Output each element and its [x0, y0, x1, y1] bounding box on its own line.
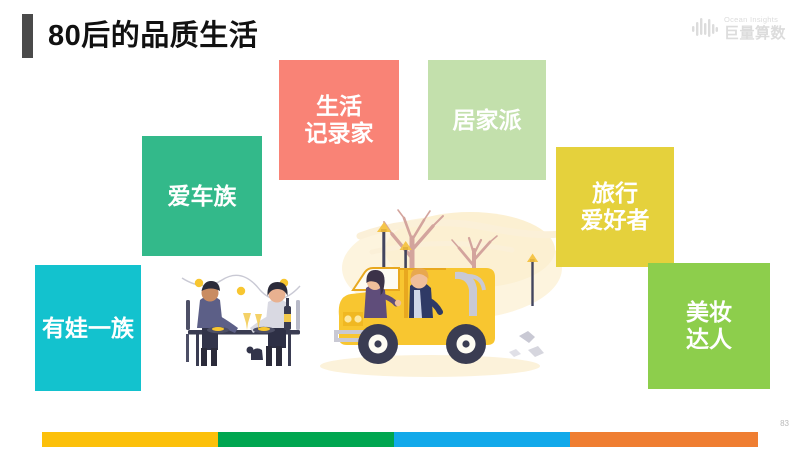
tile-label: 生活 记录家: [305, 93, 374, 147]
title-accent-bar: [22, 14, 33, 58]
logo-name: 巨量算数: [724, 26, 786, 41]
logo-text-group: Ocean Insights 巨量算数: [724, 16, 786, 41]
page-title: 80后的品质生活: [48, 17, 258, 55]
tile-youwa-yizu[interactable]: 有娃一族: [35, 265, 141, 391]
segment-orange: [570, 432, 758, 447]
tile-label: 有娃一族: [42, 315, 134, 342]
tile-label: 爱车族: [168, 183, 237, 210]
tile-aichezu[interactable]: 爱车族: [142, 136, 262, 256]
tile-meizhuang-daren[interactable]: 美妆 达人: [648, 263, 770, 389]
logo-tagline: Ocean Insights: [724, 16, 786, 24]
page-number: 83: [780, 419, 789, 428]
segment-yellow: [42, 432, 218, 447]
tile-jujiapai[interactable]: 居家派: [428, 60, 546, 180]
tile-label: 美妆 达人: [686, 299, 732, 353]
tile-shenghuo-jilujia[interactable]: 生活 记录家: [279, 60, 399, 180]
tile-label: 居家派: [453, 107, 522, 134]
slide-canvas: 80后的品质生活 Ocean Insights 巨量算数: [0, 0, 800, 450]
tile-lvxing-aihaozhe[interactable]: 旅行 爱好者: [556, 147, 674, 267]
footer-color-bar: [42, 432, 758, 447]
bar-chart-logo-icon: [692, 17, 718, 39]
brand-logo: Ocean Insights 巨量算数: [692, 16, 786, 41]
segment-green: [218, 432, 394, 447]
segment-blue: [394, 432, 570, 447]
tile-label: 旅行 爱好者: [581, 180, 650, 234]
